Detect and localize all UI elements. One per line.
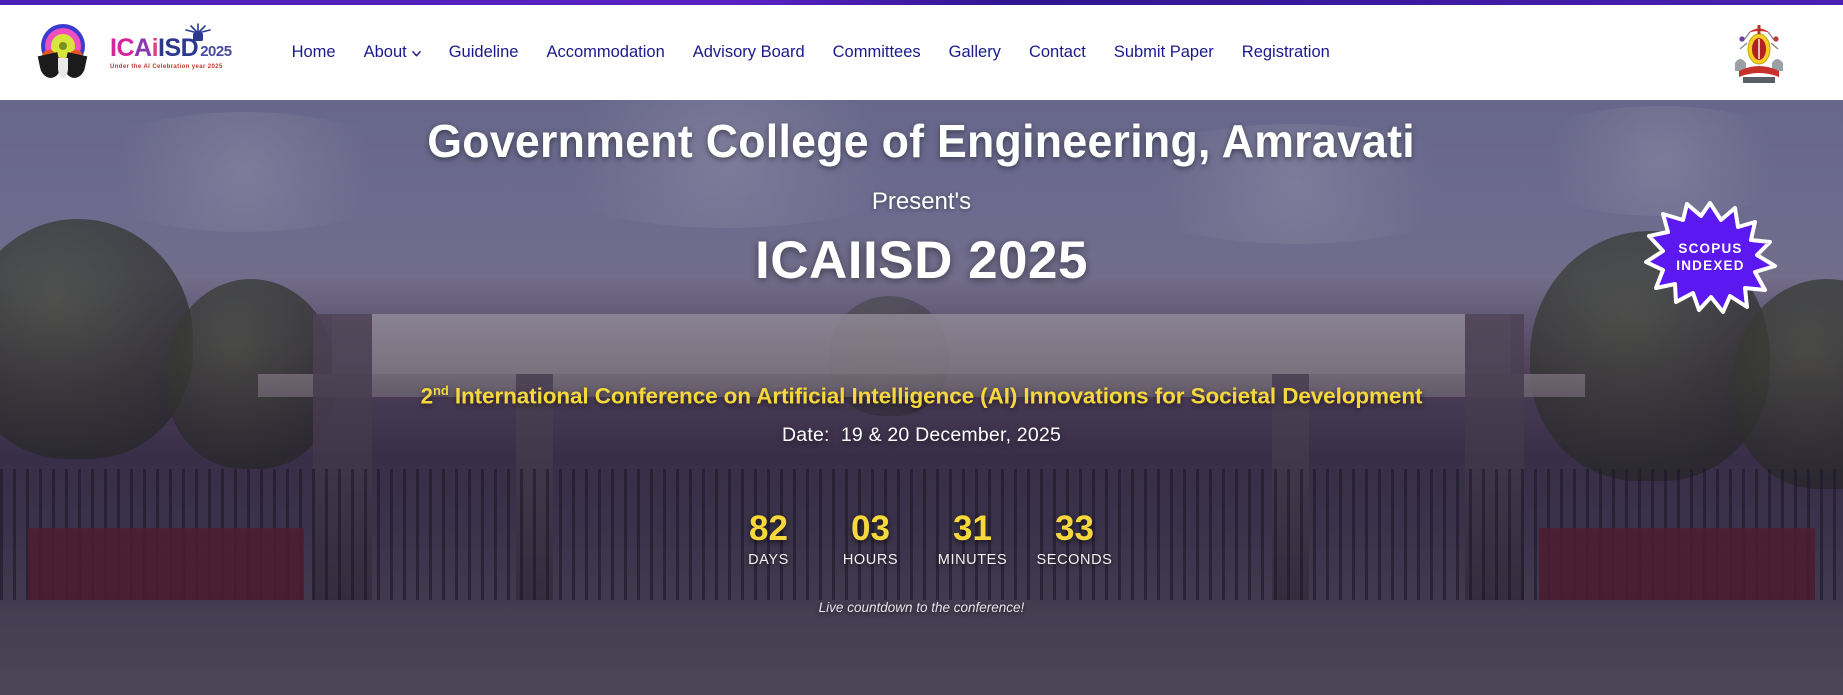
- presents-text: Present's: [872, 188, 971, 216]
- date-value: 19 & 20 December, 2025: [841, 424, 1061, 446]
- countdown-unit-seconds: 33 SECONDS: [1036, 509, 1114, 568]
- countdown-unit-hours: 03 HOURS: [832, 509, 910, 568]
- chevron-down-icon: [412, 49, 421, 58]
- site-header: ICAiISD2025 Under the AI Celebration yea…: [0, 5, 1843, 100]
- nav-item-about[interactable]: About: [364, 43, 421, 62]
- nav-label: Guideline: [449, 43, 519, 62]
- logo-group[interactable]: ICAiISD2025 Under the AI Celebration yea…: [0, 24, 232, 82]
- conference-subtitle: 2nd International Conference on Artifici…: [421, 383, 1423, 410]
- subtitle-rest: International Conference on Artificial I…: [449, 384, 1423, 409]
- countdown-label: HOURS: [843, 552, 898, 568]
- date-label: Date:: [782, 424, 830, 446]
- hero-content: Government College of Engineering, Amrav…: [0, 100, 1843, 695]
- subtitle-ordinal-suffix: nd: [433, 383, 449, 398]
- countdown-value: 31: [953, 509, 992, 549]
- logo-part-year: 2025: [200, 44, 231, 59]
- nav-label: Gallery: [949, 43, 1001, 62]
- countdown-timer: 82 DAYS 03 HOURS 31 MINUTES 33 SECONDS: [730, 509, 1114, 568]
- hero-banner: SCOPUS INDEXED Government College of Eng…: [0, 100, 1843, 695]
- nav-item-accommodation[interactable]: Accommodation: [546, 43, 664, 62]
- nav-item-guideline[interactable]: Guideline: [449, 43, 519, 62]
- nav-label: Committees: [833, 43, 921, 62]
- main-navigation[interactable]: Home About Guideline Accommodation Advis…: [292, 43, 1330, 62]
- countdown-label: MINUTES: [938, 552, 1007, 568]
- logo-sparkle-icon: [178, 21, 218, 43]
- nav-item-committees[interactable]: Committees: [833, 43, 921, 62]
- nav-label: Home: [292, 43, 336, 62]
- nav-label: Registration: [1242, 43, 1330, 62]
- scopus-indexed-badge: SCOPUS INDEXED: [1643, 200, 1778, 315]
- countdown-value: 82: [749, 509, 788, 549]
- logo-part-a: A: [134, 36, 152, 61]
- nav-label: Advisory Board: [693, 43, 805, 62]
- countdown-unit-minutes: 31 MINUTES: [934, 509, 1012, 568]
- maharashtra-emblem-icon: [1730, 19, 1788, 85]
- countdown-value: 33: [1055, 509, 1094, 549]
- countdown-unit-days: 82 DAYS: [730, 509, 808, 568]
- nav-item-advisory-board[interactable]: Advisory Board: [693, 43, 805, 62]
- nav-label: Submit Paper: [1114, 43, 1214, 62]
- nav-item-registration[interactable]: Registration: [1242, 43, 1330, 62]
- conference-date: Date: 19 & 20 December, 2025: [782, 424, 1061, 447]
- nav-item-home[interactable]: Home: [292, 43, 336, 62]
- college-name-heading: Government College of Engineering, Amrav…: [428, 114, 1416, 168]
- logo-part-ic: IC: [110, 36, 134, 61]
- countdown-note: Live countdown to the conference!: [819, 600, 1025, 615]
- logo-tagline: Under the AI Celebration year 2025: [110, 64, 223, 70]
- countdown-label: DAYS: [748, 552, 789, 568]
- nav-item-gallery[interactable]: Gallery: [949, 43, 1001, 62]
- nav-label: Accommodation: [546, 43, 664, 62]
- conference-acronym-title: ICAIISD 2025: [755, 230, 1088, 291]
- subtitle-ordinal: 2: [421, 384, 433, 409]
- nav-label: Contact: [1029, 43, 1086, 62]
- countdown-label: SECONDS: [1037, 552, 1113, 568]
- nav-item-contact[interactable]: Contact: [1029, 43, 1086, 62]
- college-seal-icon[interactable]: [38, 24, 88, 82]
- nav-item-submit-paper[interactable]: Submit Paper: [1114, 43, 1214, 62]
- scopus-burst-icon: [1643, 200, 1778, 315]
- countdown-value: 03: [851, 509, 890, 549]
- nav-label: About: [364, 43, 407, 62]
